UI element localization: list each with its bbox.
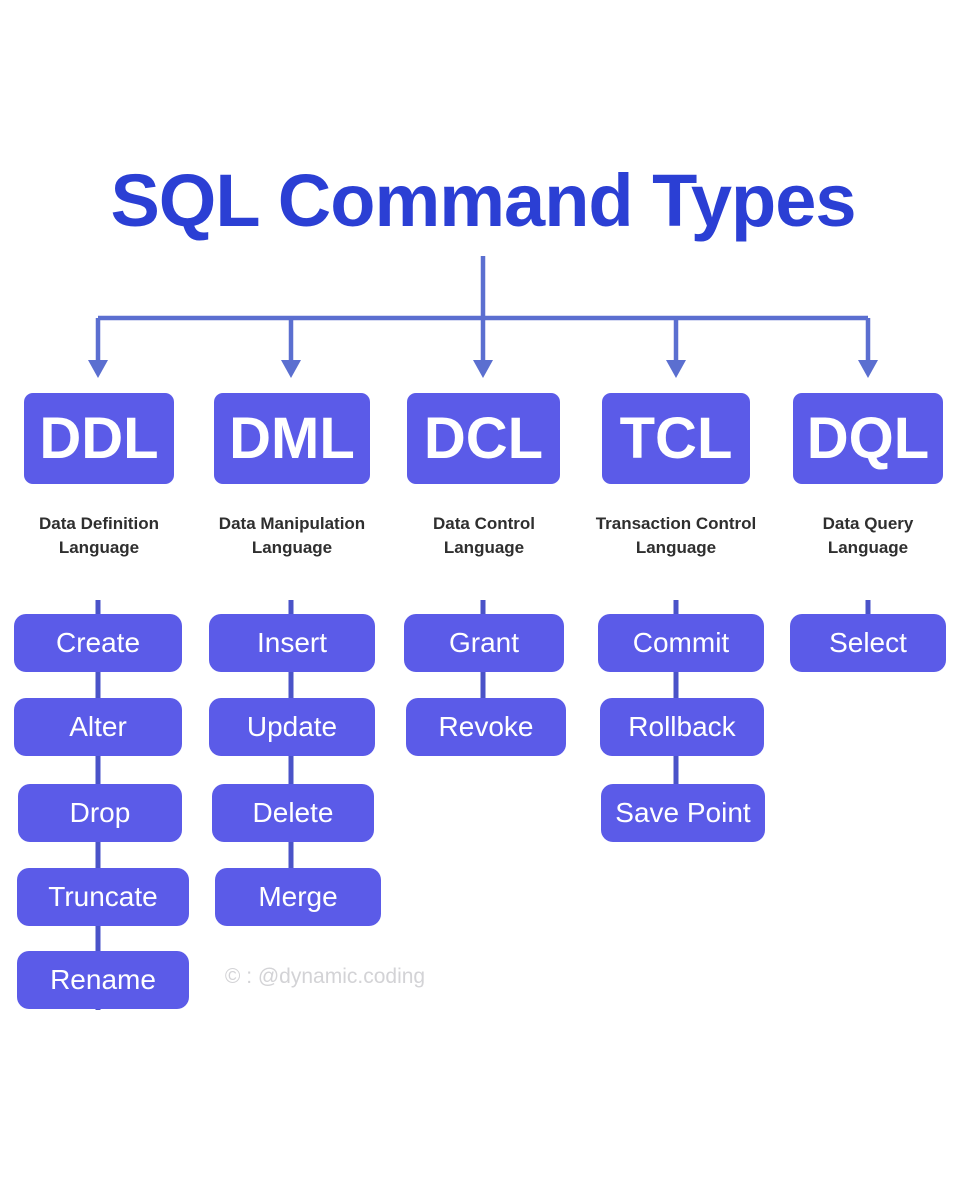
category-box-tcl[interactable]: TCL — [602, 393, 750, 484]
category-subtitle-ddl: Data Definition Language — [8, 512, 190, 560]
command-tcl-save-point[interactable]: Save Point — [601, 784, 765, 842]
command-dcl-revoke[interactable]: Revoke — [406, 698, 566, 756]
command-ddl-rename[interactable]: Rename — [17, 951, 189, 1009]
command-dml-merge[interactable]: Merge — [215, 868, 381, 926]
arrowhead-ddl — [88, 360, 108, 378]
category-subtitle-dcl: Data Control Language — [393, 512, 575, 560]
arrowheads — [88, 360, 878, 378]
watermark-credit: © : @dynamic.coding — [205, 965, 445, 989]
category-subtitle-dml-line1: Data Manipulation — [197, 512, 387, 536]
category-subtitle-dml-line2: Language — [197, 536, 387, 560]
category-subtitle-ddl-line1: Data Definition — [8, 512, 190, 536]
category-subtitle-tcl: Transaction Control Language — [570, 512, 782, 560]
category-subtitle-tcl-line2: Language — [570, 536, 782, 560]
category-box-dml[interactable]: DML — [214, 393, 370, 484]
category-subtitle-dml: Data Manipulation Language — [197, 512, 387, 560]
page-title: SQL Command Types — [0, 158, 966, 244]
category-subtitle-ddl-line2: Language — [8, 536, 190, 560]
command-dml-update[interactable]: Update — [209, 698, 375, 756]
command-dql-select[interactable]: Select — [790, 614, 946, 672]
arrowhead-dcl — [473, 360, 493, 378]
command-ddl-drop[interactable]: Drop — [18, 784, 182, 842]
category-box-ddl[interactable]: DDL — [24, 393, 174, 484]
category-subtitle-dcl-line1: Data Control — [393, 512, 575, 536]
sql-command-types-diagram: SQL Command Types — [0, 0, 966, 1200]
arrowhead-tcl — [666, 360, 686, 378]
command-ddl-create[interactable]: Create — [14, 614, 182, 672]
command-dcl-grant[interactable]: Grant — [404, 614, 564, 672]
command-dml-insert[interactable]: Insert — [209, 614, 375, 672]
command-dml-delete[interactable]: Delete — [212, 784, 374, 842]
arrowhead-dql — [858, 360, 878, 378]
category-subtitle-dql-line1: Data Query — [777, 512, 959, 536]
command-ddl-truncate[interactable]: Truncate — [17, 868, 189, 926]
category-subtitle-tcl-line1: Transaction Control — [570, 512, 782, 536]
category-box-dcl[interactable]: DCL — [407, 393, 560, 484]
category-box-dql[interactable]: DQL — [793, 393, 943, 484]
command-tcl-commit[interactable]: Commit — [598, 614, 764, 672]
category-subtitle-dql-line2: Language — [777, 536, 959, 560]
category-subtitle-dcl-line2: Language — [393, 536, 575, 560]
category-subtitle-dql: Data Query Language — [777, 512, 959, 560]
command-tcl-rollback[interactable]: Rollback — [600, 698, 764, 756]
arrowhead-dml — [281, 360, 301, 378]
command-ddl-alter[interactable]: Alter — [14, 698, 182, 756]
